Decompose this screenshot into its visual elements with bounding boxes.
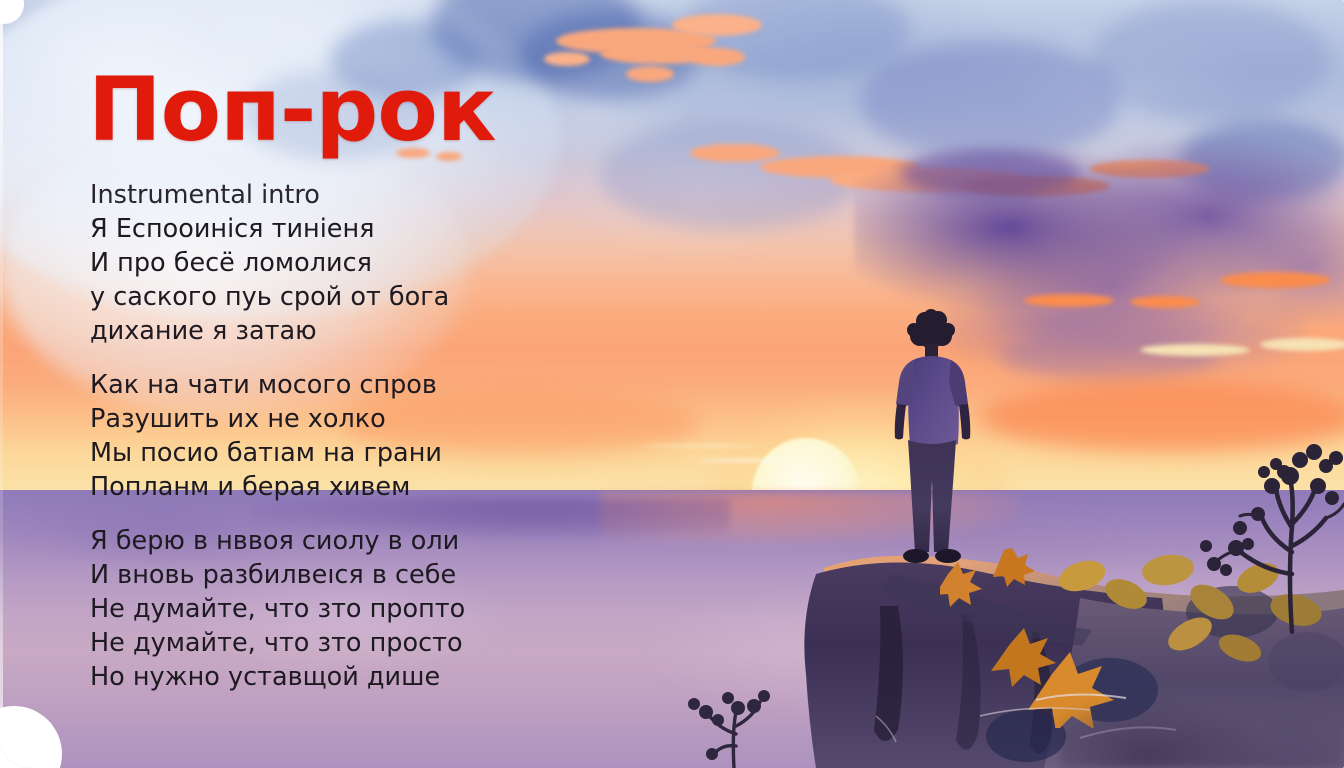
lyrics-line: Не думайте, что зто пропто: [90, 592, 560, 626]
foreground-shrub: [676, 676, 796, 768]
lyrics-stanza: Я берю в нввоя сиолу в оли И вновь разби…: [90, 524, 560, 694]
figure-trousers: [908, 440, 956, 552]
shrub-leaves: [688, 690, 770, 760]
lyrics-line: Мы посио батıам на грани: [90, 436, 560, 470]
lyrics-line: Но нужно уставщой дише: [90, 660, 560, 694]
lyrics-line: Разушить их не холко: [90, 402, 560, 436]
figure-neck: [925, 344, 938, 358]
branch-trunk: [1290, 526, 1292, 632]
lyrics-line: Я берю в нввоя сиолу в оли: [90, 524, 560, 558]
page-title: Поп-рок: [88, 66, 496, 154]
leaf-star-orange: [991, 628, 1056, 687]
figure-left-shoe: [903, 549, 929, 563]
branch-limb: [1276, 488, 1292, 528]
branch-limb: [1238, 550, 1292, 574]
lyrics-line: у саского пуь срой от бога: [90, 280, 560, 314]
shrub-stem: [733, 712, 736, 768]
branch-limb: [1290, 478, 1293, 526]
lyrics-line: Я Еспооиніся тиніеня: [90, 212, 560, 246]
lyrics-line: Instrumental intro: [90, 178, 560, 212]
lyrics-line: И про бесё ломолися: [90, 246, 560, 280]
branch-twig: [1326, 504, 1344, 518]
lyrics-stanza: Как на чати мосого спров Разушить их не …: [90, 368, 560, 504]
figure-right-arm: [959, 404, 970, 440]
bare-branch: [1188, 424, 1344, 634]
lyrics-line: Попланм и берая хивем: [90, 470, 560, 504]
figure-hair: [907, 309, 955, 348]
leaf-cluster-orange: [940, 548, 1035, 607]
figure-left-arm: [895, 404, 906, 440]
poster-canvas: Поп-рок Instrumental intro Я Еспооиніся …: [0, 0, 1344, 768]
lyrics-block: Instrumental intro Я Еспооиніся тиніеня …: [90, 178, 560, 694]
lyrics-stanza: Instrumental intro Я Еспооиніся тиніеня …: [90, 178, 560, 348]
lyrics-line: Как на чати мосого спров: [90, 368, 560, 402]
sun-ray-streak: [700, 458, 790, 463]
foreground-dark-rocks: [1060, 638, 1344, 768]
lyrics-line: дихание я затаю: [90, 314, 560, 348]
left-edge-highlight: [0, 0, 3, 768]
lyrics-line: Не думайте, что зто просто: [90, 626, 560, 660]
sun-ray-streak: [640, 444, 760, 448]
lyrics-line: И вновь разбилвеıся в себе: [90, 558, 560, 592]
branch-limb: [1292, 518, 1326, 546]
